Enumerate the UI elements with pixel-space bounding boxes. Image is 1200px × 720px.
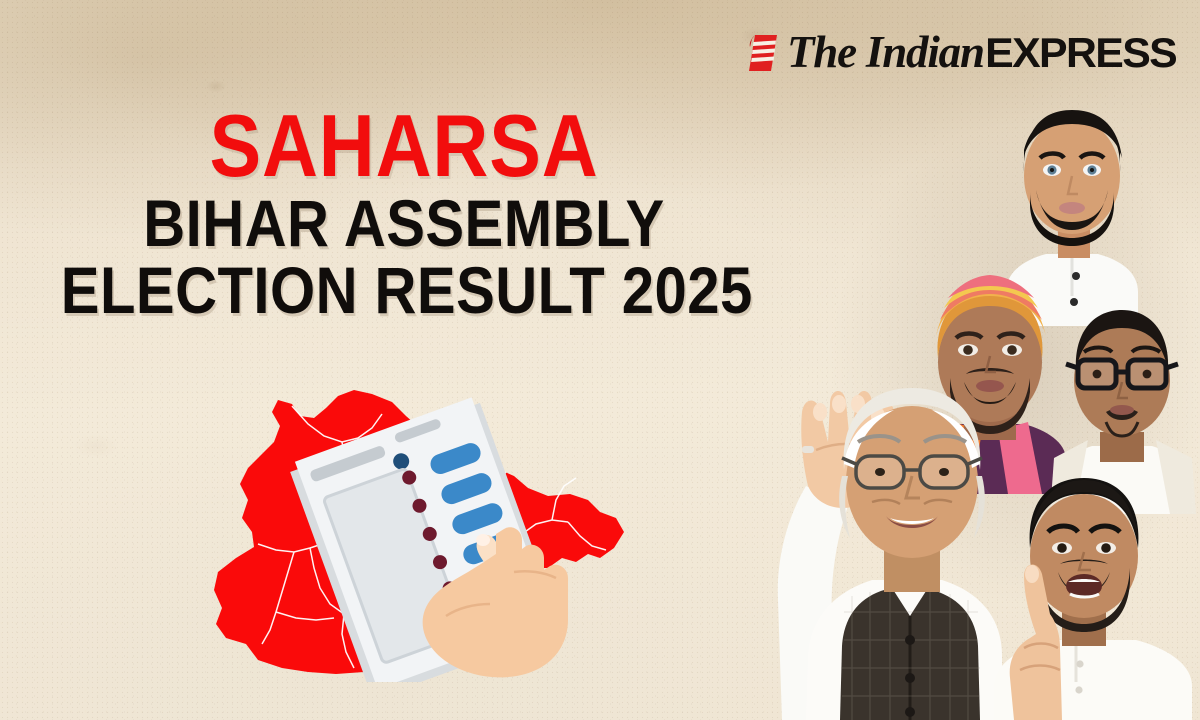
election-result-poster: SAHARSA BIHAR ASSEMBLY ELECTION RESULT 2… [0, 0, 1200, 720]
indian-express-emblem-icon [746, 33, 780, 73]
headline-line-2: ELECTION RESULT 2025 [61, 259, 747, 322]
evm-graphic-svg [196, 372, 636, 682]
headline-line-1: BIHAR ASSEMBLY [61, 192, 747, 255]
portrait-nitish-kumar [744, 300, 1012, 720]
portrait-tejashwi-yadav [980, 452, 1200, 720]
fingernail [476, 534, 490, 546]
headline-block: SAHARSA BIHAR ASSEMBLY ELECTION RESULT 2… [14, 104, 794, 322]
masthead-express: EXPRESS [985, 32, 1176, 74]
constituency-name: SAHARSA [61, 104, 747, 188]
masthead-the-indian: The Indian [787, 30, 984, 75]
publication-masthead: The Indian EXPRESS [746, 30, 1174, 75]
finger-ring [802, 446, 814, 453]
bihar-map-graphic [196, 372, 636, 682]
